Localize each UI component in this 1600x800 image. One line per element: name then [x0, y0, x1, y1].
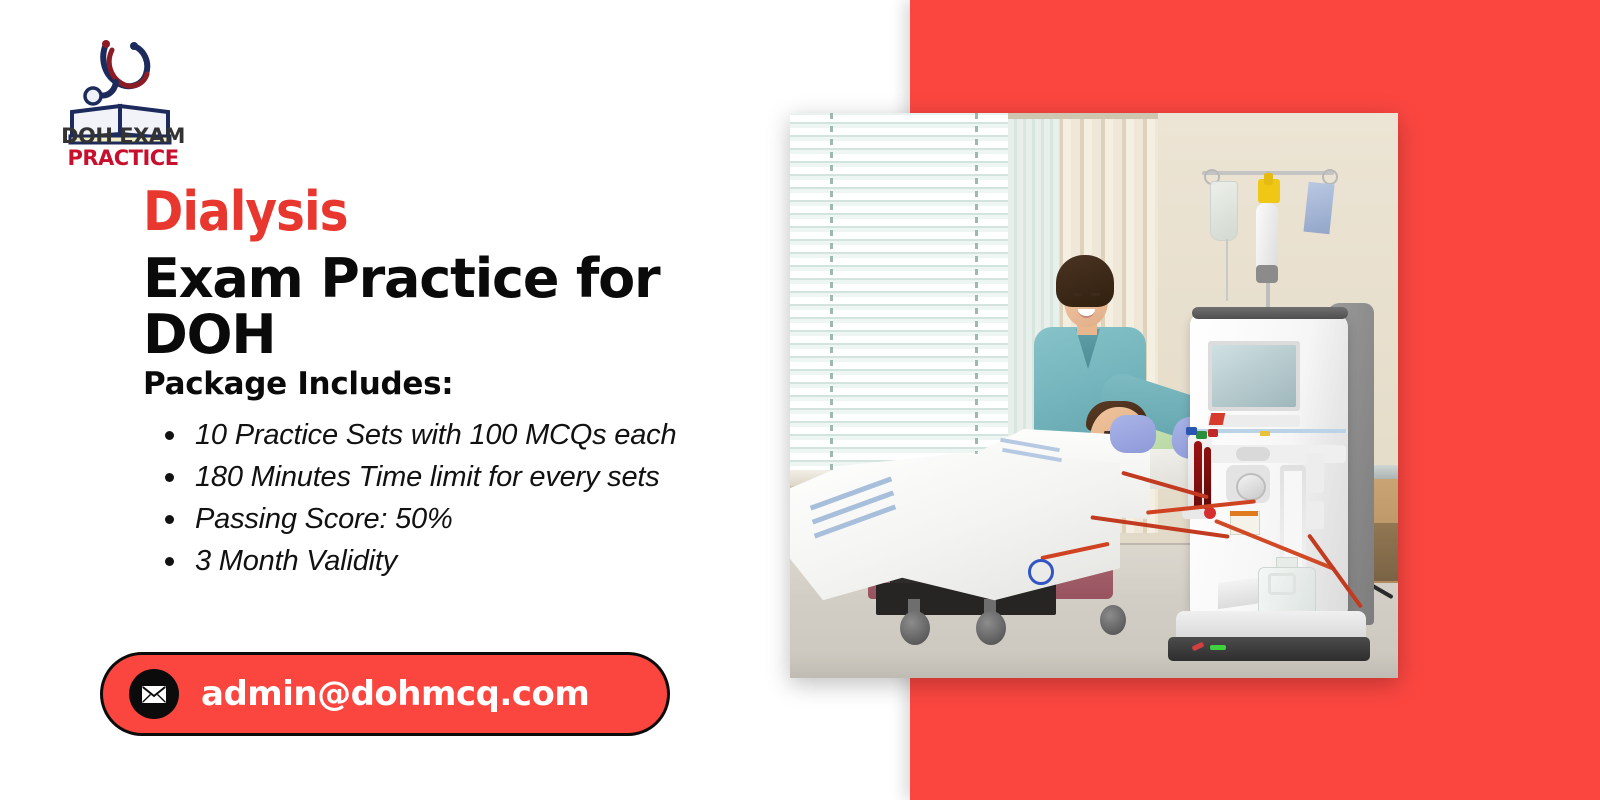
list-item-label: Passing Score: 50% [195, 503, 453, 535]
list-item: Passing Score: 50% [165, 498, 803, 540]
machine-knob[interactable] [1236, 447, 1270, 461]
blue-connector-icon [1186, 427, 1197, 435]
headline-line-1: Dialysis [143, 185, 783, 239]
iv-line [1226, 239, 1228, 301]
envelope-icon [129, 669, 179, 719]
list-item-label: 180 Minutes Time limit for every sets [195, 461, 660, 493]
cartridge-cap [1256, 265, 1278, 283]
logo-text-primary: DOH EXAM [58, 124, 188, 148]
floor-shading [790, 653, 1398, 678]
nurse-hair [1056, 255, 1114, 307]
dialysis-clinic-photo [790, 113, 1398, 678]
package-title: Package Includes: [143, 366, 803, 402]
red-clamp-icon [1204, 507, 1216, 519]
stethoscope-over-book-icon [85, 40, 147, 104]
brand-logo[interactable]: DOH EXAM PRACTICE [60, 28, 185, 156]
blue-clamp-icon [1028, 559, 1054, 585]
package-section: Package Includes: 10 Practice Sets with … [143, 366, 803, 582]
list-item: 3 Month Validity [165, 540, 803, 582]
yellow-clamp-icon [1264, 173, 1273, 185]
package-list: 10 Practice Sets with 100 MCQs each 180 … [143, 414, 803, 582]
list-item-label: 10 Practice Sets with 100 MCQs each [195, 419, 676, 451]
blood-pump-rotor [1236, 473, 1266, 501]
machine-display[interactable] [1212, 345, 1296, 407]
bullet-icon [165, 431, 174, 440]
fluid-jug-handle [1268, 573, 1296, 595]
machine-top-rail [1192, 307, 1348, 319]
blood-chamber [1204, 447, 1211, 511]
power-led-icon [1210, 645, 1226, 650]
curtain-rail [1008, 113, 1158, 119]
bullet-icon [165, 515, 174, 524]
list-item: 10 Practice Sets with 100 MCQs each [165, 414, 803, 456]
nurse-eye [1073, 293, 1082, 296]
chair-caster [1100, 605, 1126, 635]
green-connector-icon [1196, 431, 1207, 439]
machine-handle[interactable] [1306, 501, 1324, 529]
list-item-label: 3 Month Validity [195, 545, 397, 577]
headline-group: Dialysis Exam Practice for DOH [143, 185, 783, 363]
headline-line-2: Exam Practice for DOH [143, 251, 783, 363]
chair-caster [900, 611, 930, 645]
blind-cord-icon [975, 113, 978, 470]
machine-indicator-icon [1260, 431, 1270, 436]
bullet-icon [165, 557, 174, 566]
email-address-label: admin@dohmcq.com [201, 674, 589, 714]
email-contact-button[interactable]: admin@dohmcq.com [100, 652, 670, 736]
blind-cord-icon [830, 113, 833, 470]
warning-label-bar [1230, 511, 1258, 516]
bullet-icon [165, 473, 174, 482]
nurse-glove [1110, 415, 1156, 453]
promo-banner: DOH EXAM PRACTICE Dialysis Exam Practice… [0, 0, 1600, 800]
machine-alarm-button[interactable] [1209, 413, 1226, 425]
blood-chamber [1194, 441, 1202, 511]
nurse-eye [1091, 293, 1100, 296]
red-connector-icon [1208, 429, 1218, 437]
chair-caster [976, 611, 1006, 645]
iv-fluid-bag [1210, 181, 1238, 241]
logo-text-secondary: PRACTICE [58, 146, 188, 170]
machine-handle[interactable] [1306, 453, 1324, 493]
blue-hanging-card [1303, 182, 1334, 234]
list-item: 180 Minutes Time limit for every sets [165, 456, 803, 498]
